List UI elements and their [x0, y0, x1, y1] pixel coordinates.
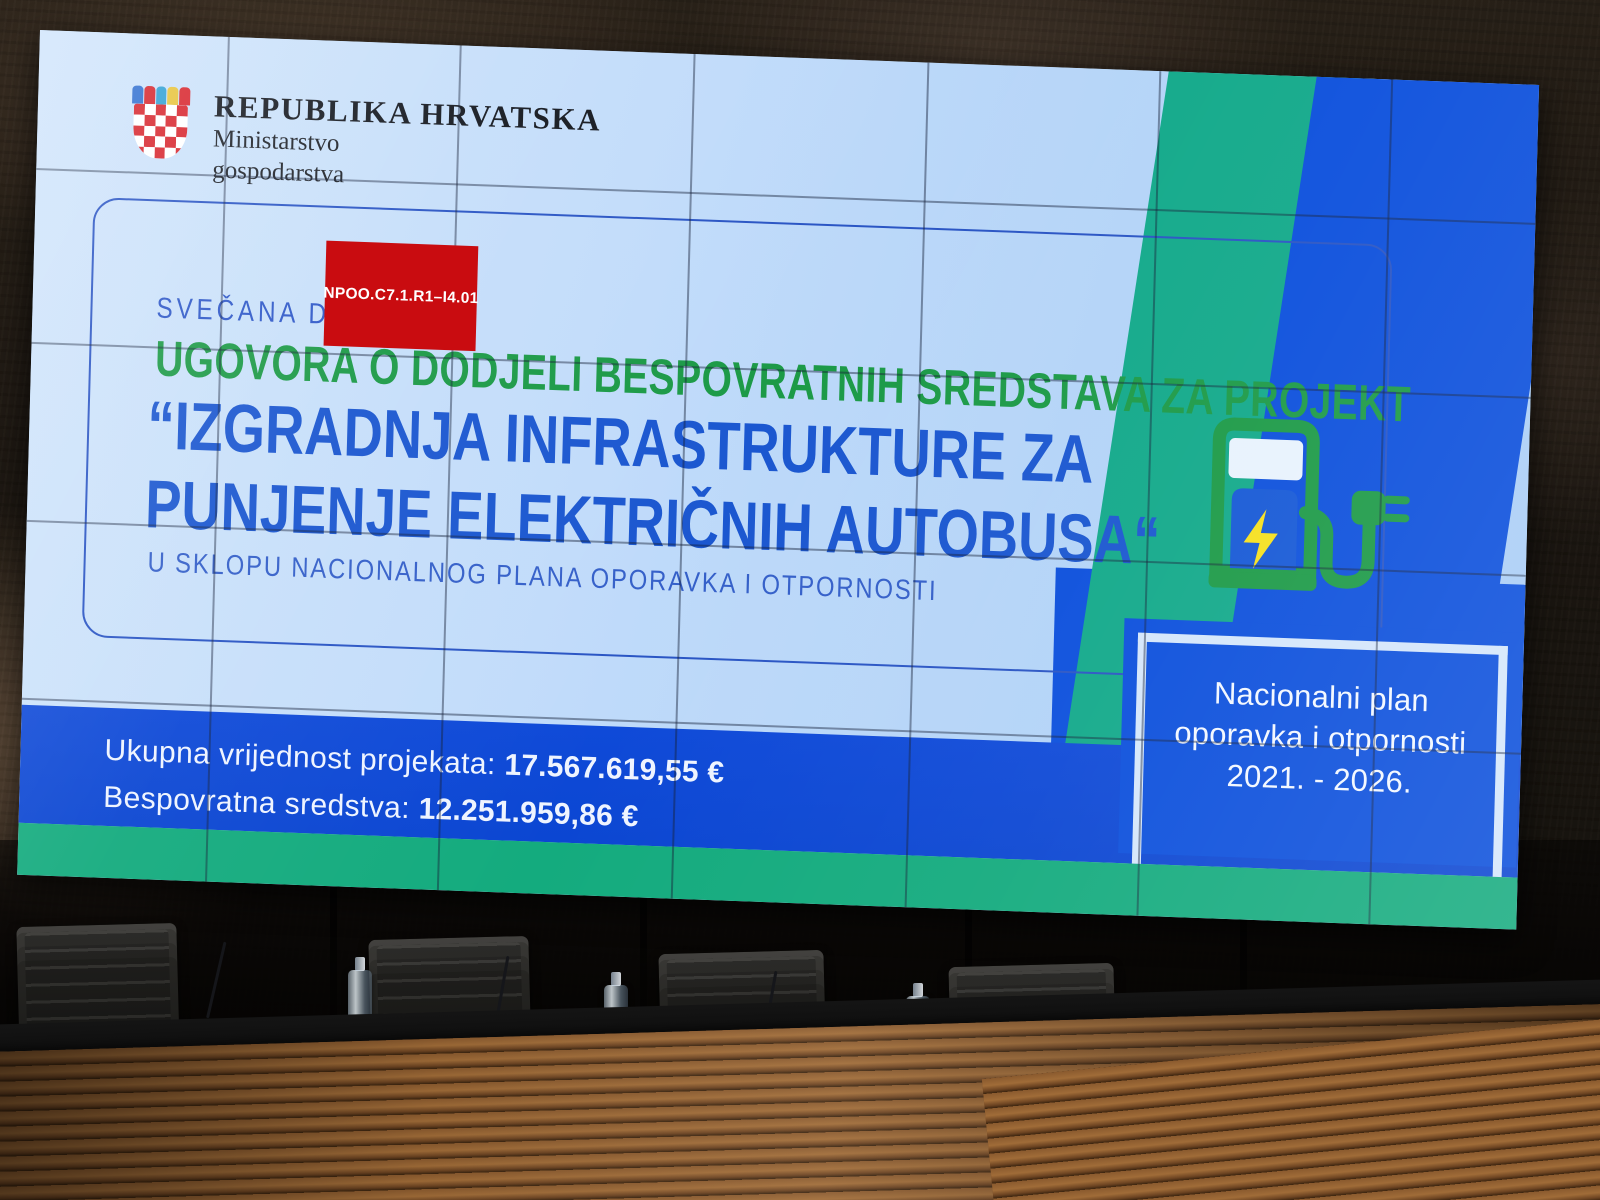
- npoo-code-badge: NPOO.C7.1.R1–I4.01: [324, 241, 479, 352]
- npoo-logo-box: Nacionalni plan oporavka i otpornosti 20…: [1118, 618, 1522, 867]
- amount-label: Ukupna vrijednost projekata:: [104, 734, 496, 781]
- croatian-coat-of-arms-icon: [129, 85, 193, 159]
- ministry-title-block: REPUBLIKA HRVATSKA Ministarstvo gospodar…: [212, 88, 602, 199]
- video-wall-display: REPUBLIKA HRVATSKA Ministarstvo gospodar…: [17, 30, 1539, 930]
- conference-hall-scene: REPUBLIKA HRVATSKA Ministarstvo gospodar…: [0, 0, 1600, 1200]
- npoo-logo-text: Nacionalni plan oporavka i otpornosti 20…: [1120, 670, 1521, 807]
- ev-charging-station-icon: [1153, 401, 1428, 616]
- amount-label: Bespovratna sredstva:: [103, 780, 411, 824]
- amount-value: 12.251.959,86 €: [418, 792, 639, 833]
- coa-shield: [133, 103, 188, 159]
- amount-value: 17.567.619,55 €: [504, 748, 725, 789]
- presentation-slide: REPUBLIKA HRVATSKA Ministarstvo gospodar…: [17, 30, 1539, 930]
- ministry-header: REPUBLIKA HRVATSKA Ministarstvo gospodar…: [128, 85, 602, 199]
- npoo-code-text: NPOO.C7.1.R1–I4.01: [323, 284, 479, 308]
